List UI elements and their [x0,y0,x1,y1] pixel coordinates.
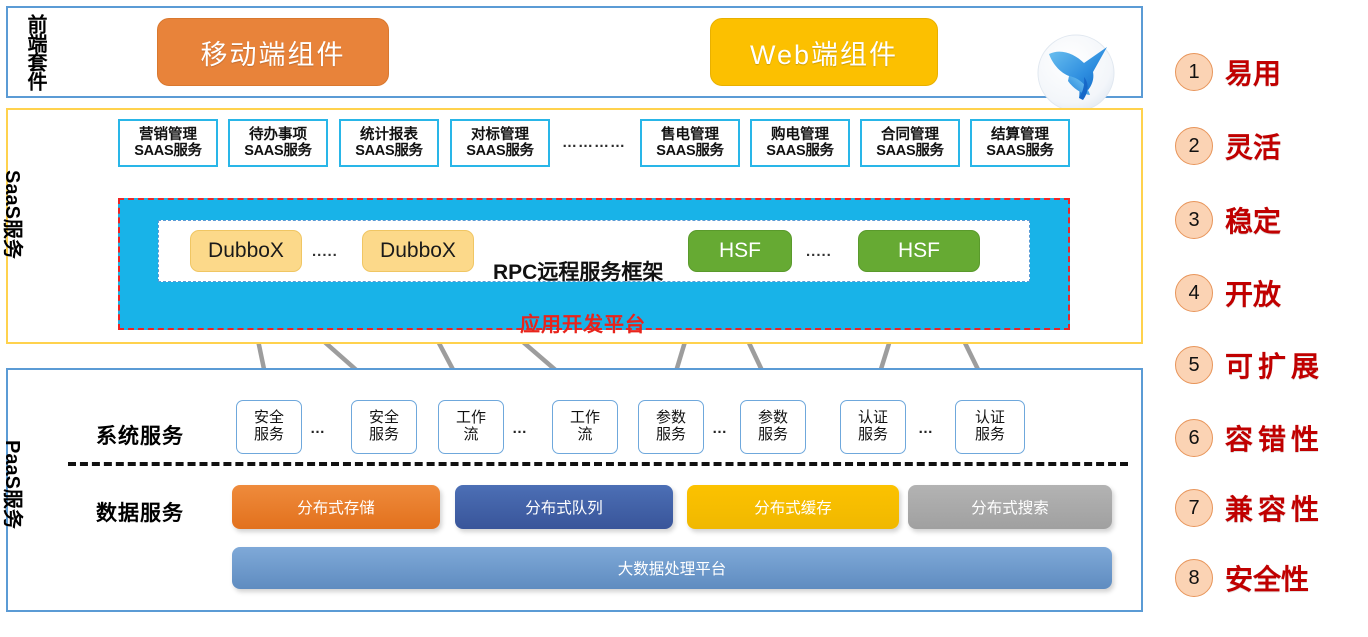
feature-item[interactable]: 2 灵活 [1175,126,1281,166]
feature-label: 开放 [1225,273,1281,313]
saas-services-separator: ………… [562,134,626,151]
saas-service-line2: SAAS服务 [244,143,312,159]
rpc-node-label: HSF [719,239,761,263]
feature-label: 易用 [1225,52,1281,92]
feature-number: 1 [1175,53,1213,91]
feature-number: 5 [1175,346,1213,384]
saas-service-line2: SAAS服务 [766,143,834,159]
frontend-layer-label: 前端套件 [25,14,51,90]
rpc-node-dots: ..... [806,243,832,260]
saas-service-line1: 营销管理 [139,127,197,143]
web-components-pill[interactable]: Web端组件 [710,18,938,86]
paas-section-divider [68,462,1128,466]
feature-item[interactable]: 8 安全性 [1175,558,1309,598]
feature-label: 稳定 [1225,200,1281,240]
saas-service-box[interactable]: 营销管理 SAAS服务 [118,119,218,167]
feature-label: 兼容性 [1225,488,1324,528]
feature-item[interactable]: 4 开放 [1175,273,1281,313]
rpc-node-label: DubboX [208,239,284,263]
system-services-ellipsis: … [512,420,528,437]
data-service-box[interactable]: 分布式缓存 [687,485,899,529]
saas-service-box[interactable]: 统计报表 SAAS服务 [339,119,439,167]
rpc-node-dots: ..... [312,243,338,260]
feature-label: 安全性 [1225,558,1309,598]
mobile-components-pill[interactable]: 移动端组件 [157,18,389,86]
saas-service-box[interactable]: 待办事项 SAAS服务 [228,119,328,167]
system-service-line2: 服务 [758,427,788,444]
saas-service-line1: 合同管理 [881,127,939,143]
saas-service-box[interactable]: 对标管理 SAAS服务 [450,119,550,167]
system-service-line2: 服务 [858,427,888,444]
bigdata-platform-label: 大数据处理平台 [618,557,727,579]
system-service-box[interactable]: 安全 服务 [351,400,417,454]
feature-label: 灵活 [1225,126,1281,166]
system-service-line1: 安全 [254,410,284,427]
feature-label: 容错性 [1225,418,1324,458]
data-service-box[interactable]: 分布式队列 [455,485,673,529]
platform-title: 应用开发平台 [520,308,646,337]
feature-item[interactable]: 7 兼容性 [1175,488,1324,528]
system-service-line2: 流 [577,427,592,444]
mobile-components-label: 移动端组件 [201,33,346,72]
system-service-line1: 参数 [656,410,686,427]
saas-service-line2: SAAS服务 [656,143,724,159]
data-service-label: 分布式搜索 [971,496,1049,518]
system-service-box[interactable]: 工作 流 [438,400,504,454]
system-service-box[interactable]: 认证 服务 [840,400,906,454]
system-service-line2: 服务 [254,427,284,444]
system-services-row-label: 系统服务 [96,420,184,450]
system-service-line2: 服务 [975,427,1005,444]
system-service-box[interactable]: 安全 服务 [236,400,302,454]
data-services-row-label: 数据服务 [96,497,184,527]
feature-number: 3 [1175,201,1213,239]
system-service-box[interactable]: 参数 服务 [638,400,704,454]
data-service-label: 分布式队列 [525,496,603,518]
saas-service-line1: 购电管理 [771,127,829,143]
data-service-label: 分布式缓存 [754,496,832,518]
architecture-diagram: 前端套件 移动端组件 Web端组件 [0,0,1368,637]
system-service-box[interactable]: 工作 流 [552,400,618,454]
system-service-line1: 安全 [369,410,399,427]
hummingbird-logo [1035,32,1117,114]
data-service-box[interactable]: 分布式搜索 [908,485,1112,529]
bigdata-platform-box[interactable]: 大数据处理平台 [232,547,1112,589]
system-service-line2: 服务 [656,427,686,444]
system-service-line2: 服务 [369,427,399,444]
saas-service-line1: 售电管理 [661,127,719,143]
saas-service-box[interactable]: 结算管理 SAAS服务 [970,119,1070,167]
saas-service-line1: 结算管理 [991,127,1049,143]
system-service-line2: 流 [463,427,478,444]
feature-number: 2 [1175,127,1213,165]
system-services-ellipsis: … [918,420,934,437]
rpc-framework-title: RPC远程服务框架 [493,256,663,286]
saas-service-line2: SAAS服务 [876,143,944,159]
saas-layer-label: SaaS服务 [22,170,111,190]
feature-label: 可扩展 [1225,345,1324,385]
saas-service-line1: 统计报表 [360,127,418,143]
saas-service-line2: SAAS服务 [355,143,423,159]
feature-number: 6 [1175,419,1213,457]
web-components-label: Web端组件 [750,33,898,72]
saas-service-line2: SAAS服务 [134,143,202,159]
system-service-box[interactable]: 认证 服务 [955,400,1025,454]
system-service-line1: 认证 [858,410,888,427]
saas-service-box[interactable]: 购电管理 SAAS服务 [750,119,850,167]
data-service-box[interactable]: 分布式存储 [232,485,440,529]
saas-service-line2: SAAS服务 [986,143,1054,159]
feature-number: 8 [1175,559,1213,597]
saas-service-box[interactable]: 合同管理 SAAS服务 [860,119,960,167]
system-service-line1: 参数 [758,410,788,427]
system-services-ellipsis: … [310,420,326,437]
saas-service-line2: SAAS服务 [466,143,534,159]
saas-service-box[interactable]: 售电管理 SAAS服务 [640,119,740,167]
feature-number: 4 [1175,274,1213,312]
saas-service-line1: 对标管理 [471,127,529,143]
feature-item[interactable]: 1 易用 [1175,52,1281,92]
feature-item[interactable]: 3 稳定 [1175,200,1281,240]
rpc-node-hsf[interactable]: HSF [688,230,792,272]
feature-item[interactable]: 5 可扩展 [1175,345,1324,385]
system-service-line1: 工作 [570,410,600,427]
system-service-line1: 工作 [456,410,486,427]
system-service-line1: 认证 [975,410,1005,427]
saas-service-line1: 待办事项 [249,127,307,143]
system-service-box[interactable]: 参数 服务 [740,400,806,454]
rpc-node-dubbox[interactable]: DubboX [362,230,474,272]
data-service-label: 分布式存储 [297,496,375,518]
system-services-ellipsis: … [712,420,728,437]
feature-number: 7 [1175,489,1213,527]
rpc-node-hsf[interactable]: HSF [858,230,980,272]
rpc-node-dubbox[interactable]: DubboX [190,230,302,272]
feature-item[interactable]: 6 容错性 [1175,418,1324,458]
rpc-node-label: HSF [898,239,940,263]
rpc-node-label: DubboX [380,239,456,263]
